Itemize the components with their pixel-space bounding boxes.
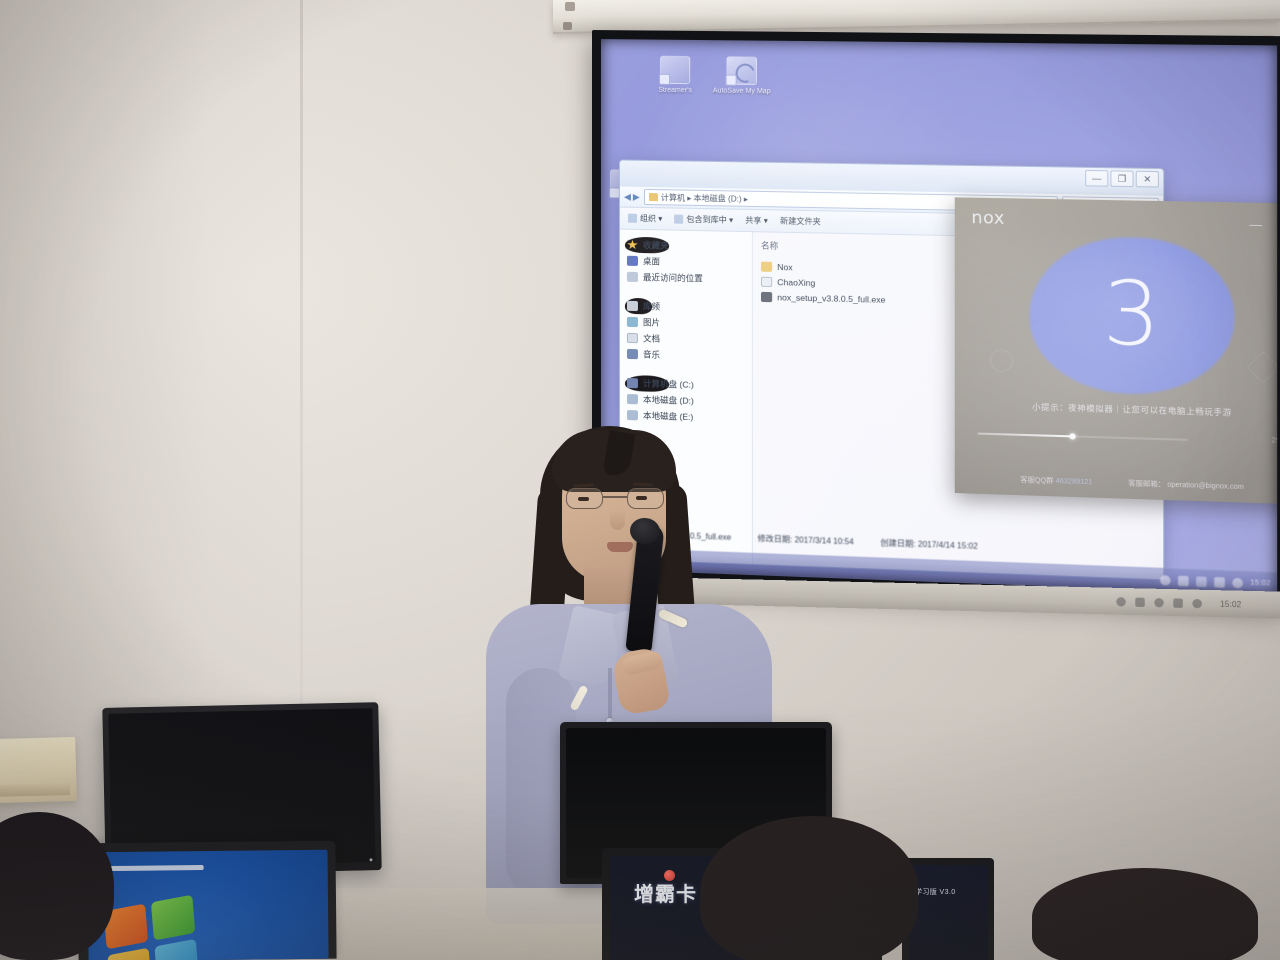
roller-bracket-lower (563, 22, 572, 30)
nav-header-label: 计算机 (643, 377, 669, 390)
library-icon (674, 215, 683, 224)
nav-back-forward[interactable]: ◀ ▶ (624, 191, 640, 202)
nav-item-label: 音乐 (643, 348, 660, 360)
sidebar-item-recent-places[interactable]: 最近访问的位置 (625, 269, 752, 288)
documents-icon (627, 333, 638, 343)
installer-left-icon (990, 349, 1013, 372)
nav-item-label: 本地磁盘 (D:) (643, 393, 694, 407)
nav-group-libraries: 库 视频 图片 文档 (625, 298, 752, 366)
support-email: 客服邮箱： operation@bignox.com (1128, 478, 1244, 492)
desktop-icon-0[interactable]: Streamer's (645, 56, 705, 96)
toolbar-share-button[interactable]: 共享 ▾ (745, 215, 768, 227)
presenter-nose (610, 510, 625, 530)
file-name: nox_setup_v3.8.0.5_full.exe (777, 292, 885, 305)
shortcut-app-icon (727, 56, 757, 85)
nav-header-favorites[interactable]: 收藏夹 (625, 237, 669, 254)
disk-icon (627, 394, 638, 404)
support-qq-label: 客服QQ群 (1020, 477, 1053, 485)
nav-header-label: 收藏夹 (643, 239, 669, 252)
nav-item-label: 最近访问的位置 (643, 271, 703, 284)
nav-header-computer[interactable]: 计算机 (625, 375, 669, 392)
desktop-icon-1[interactable]: AutoSave My Map (711, 56, 772, 97)
presenter-eye-right (636, 496, 647, 500)
source-button[interactable] (1135, 597, 1144, 606)
folder-icon (649, 193, 658, 201)
classroom-scene: Streamer's AutoSave My Map — ❐ ✕ (0, 0, 1280, 960)
maximize-button[interactable]: ❐ (1110, 170, 1133, 187)
toolbar-include-library-button[interactable]: 包含到库中 ▾ (674, 214, 733, 226)
toolbar-organize-button[interactable]: 组织 ▾ (628, 213, 662, 225)
toolbar-label: 包含到库中 ▾ (686, 214, 733, 226)
file-name: Nox (777, 261, 792, 271)
computer-icon (627, 378, 638, 388)
shortcut-app-icon (660, 56, 690, 84)
document-icon (761, 276, 772, 286)
desktop-icon-label: Streamer's (658, 87, 692, 94)
star-icon (627, 240, 638, 250)
progress-knob (1069, 433, 1075, 439)
file-name: ChaoXing (777, 277, 815, 288)
volume-up-button[interactable] (1173, 598, 1183, 608)
installer-right-icon (1247, 351, 1278, 383)
install-progress-bar (978, 433, 1188, 441)
wall-corner-edge (300, 0, 303, 740)
nox-minimize-button[interactable]: — (1249, 217, 1262, 232)
shield-icon[interactable] (1196, 576, 1207, 587)
exe-icon (761, 291, 772, 301)
explorer-window-controls[interactable]: — ❐ ✕ (1085, 170, 1159, 188)
support-email-label: 客服邮箱： (1128, 480, 1165, 488)
back-icon[interactable]: ◀ (624, 191, 631, 202)
eyeglasses-bridge (603, 496, 627, 498)
power-button[interactable] (1116, 597, 1125, 606)
installer-tip-text: 小提示：夜神模拟器｜让您可以在电脑上畅玩手游 (955, 399, 1277, 420)
sidebar-item-music[interactable]: 音乐 (625, 346, 752, 365)
minimize-button[interactable]: — (1085, 170, 1108, 187)
forward-icon[interactable]: ▶ (633, 191, 640, 202)
details-created-date: 创建日期: 2017/4/14 15:02 (880, 537, 977, 553)
progress-percent-label: 25.2% (1271, 435, 1277, 445)
nav-header-label: 库 (643, 300, 652, 312)
presenter-eye-left (578, 497, 589, 501)
nox-installer-window[interactable]: nox — ✕ 3 小提示：夜神模拟器｜让您可以在电脑上畅玩手游 25.2% 客… (955, 197, 1277, 504)
nav-item-label: 桌面 (643, 255, 660, 267)
toolbar-label: 组织 ▾ (640, 213, 662, 224)
support-email-value[interactable]: operation@bignox.com (1167, 482, 1244, 492)
volume-icon[interactable] (1178, 575, 1189, 586)
flag-icon[interactable] (1232, 577, 1243, 588)
volume-down-button[interactable] (1192, 598, 1202, 608)
folder-icon (761, 261, 772, 271)
countdown-number: 3 (1030, 244, 1235, 387)
room-floor-shade (0, 700, 1280, 960)
support-qq-value[interactable]: 463289121 (1056, 478, 1093, 486)
nav-item-label: 文档 (643, 332, 660, 344)
presenter-mouth (607, 542, 633, 552)
close-button[interactable]: ✕ (1136, 171, 1159, 188)
toolbar-label: 共享 ▾ (745, 215, 768, 227)
network-icon[interactable] (1160, 575, 1171, 586)
address-path-text: 计算机 ▸ 本地磁盘 (D:) ▸ (661, 192, 748, 205)
whiteboard-clock: 15:02 (1220, 599, 1241, 609)
menu-button[interactable] (1154, 597, 1164, 606)
pictures-icon (627, 317, 638, 327)
battery-icon[interactable] (1214, 577, 1225, 588)
progress-fill (978, 433, 1074, 438)
music-icon (627, 349, 638, 359)
toolbar-label: 新建文件夹 (780, 216, 821, 228)
taskbar-clock[interactable]: 15:02 (1250, 579, 1270, 587)
nav-header-libraries[interactable]: 库 (625, 298, 652, 315)
library-icon (627, 301, 638, 311)
desktop-icon (627, 256, 638, 266)
recent-places-icon (627, 272, 638, 282)
nav-group-favorites: 收藏夹 下载 桌面 最 (625, 237, 752, 288)
nox-logo: nox (971, 208, 1004, 229)
organize-icon (628, 214, 637, 223)
support-qq-group: 客服QQ群 463289121 (1020, 475, 1092, 488)
desktop-icon-label: AutoSave My Map (713, 87, 771, 95)
installer-footer: 客服QQ群 463289121 客服邮箱： operation@bignox.c… (955, 473, 1277, 495)
roller-bracket-upper (565, 2, 575, 11)
nav-item-label: 图片 (643, 316, 660, 328)
toolbar-new-folder-button[interactable]: 新建文件夹 (780, 216, 821, 228)
